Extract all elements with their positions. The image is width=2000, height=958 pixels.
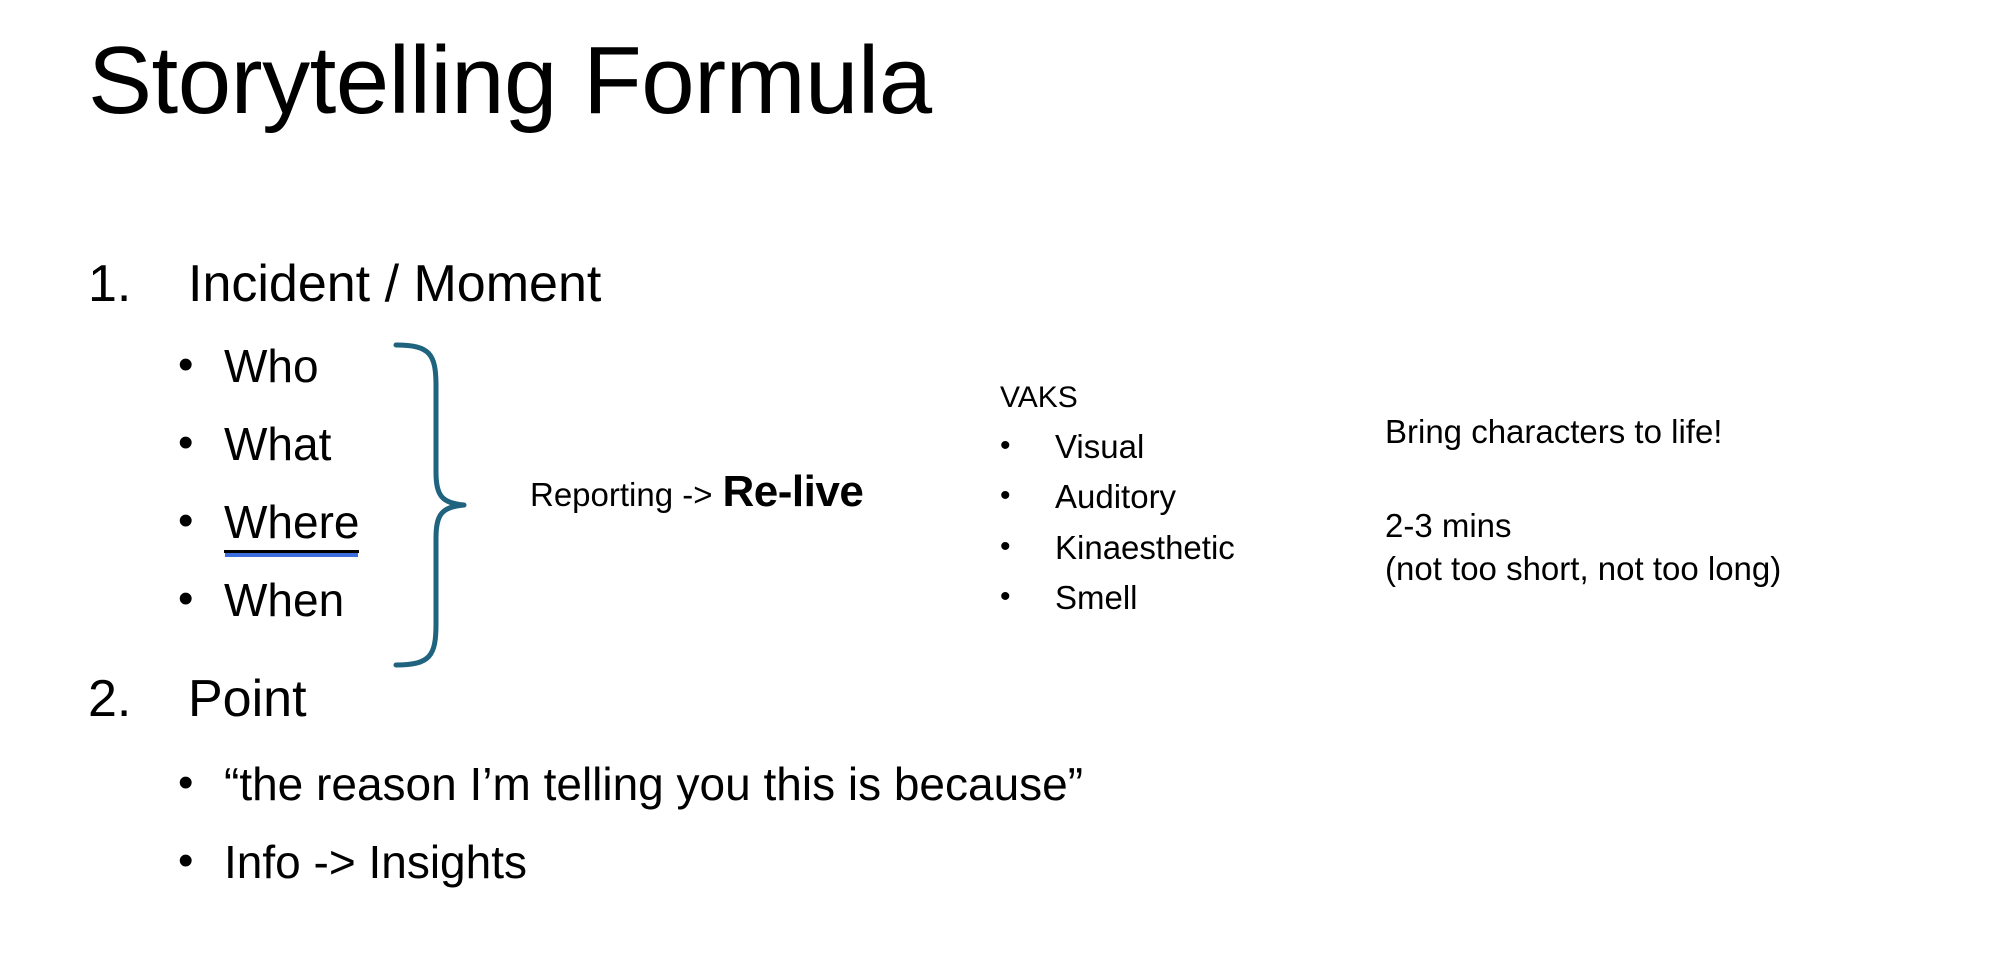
relive-label: Re-live (723, 467, 864, 516)
outline-item-2: 2.Point (88, 670, 307, 730)
note-bring-characters: Bring characters to life! (1385, 410, 1781, 454)
bullet-dot-icon: • (178, 574, 224, 625)
vaks-label-visual: Visual (1055, 426, 1144, 467)
reporting-label: Reporting -> (530, 476, 713, 513)
notes-group: Bring characters to life! 2-3 mins (not … (1385, 410, 1781, 591)
list-item: •Auditory (1000, 476, 1235, 517)
bullet-label-who: Who (224, 340, 319, 393)
bullet-dot-icon: • (178, 758, 224, 809)
bullet-dot-icon: • (1000, 426, 1055, 467)
vaks-group: VAKS •Visual •Auditory •Kinaesthetic •Sm… (1000, 380, 1235, 627)
list-item: •Where (178, 496, 359, 553)
bullet-dot-icon: • (178, 418, 224, 469)
bullet-dot-icon: • (1000, 527, 1055, 568)
slide-canvas: Storytelling Formula 1.Incident / Moment… (0, 0, 2000, 958)
reporting-relive-annotation: Reporting ->Re-live (530, 467, 863, 517)
list-item: •Visual (1000, 426, 1235, 467)
list-item: •What (178, 418, 331, 471)
list-item: •Info -> Insights (178, 836, 527, 889)
bullet-label-what: What (224, 418, 331, 471)
list-item: •Kinaesthetic (1000, 527, 1235, 568)
note-duration: 2-3 mins (1385, 504, 1781, 548)
vaks-label-kinaesthetic: Kinaesthetic (1055, 527, 1235, 568)
list-item: •When (178, 574, 344, 627)
outline-marker-2: 2. (88, 670, 188, 730)
vaks-label-smell: Smell (1055, 577, 1138, 618)
list-item: •“the reason I’m telling you this is bec… (178, 758, 1083, 811)
bullet-dot-icon: • (178, 340, 224, 391)
bullet-dot-icon: • (1000, 577, 1055, 618)
note-spacer (1385, 454, 1781, 504)
vaks-heading: VAKS (1000, 380, 1235, 416)
bullet-label-where: Where (224, 496, 359, 553)
bullet-label-reason-quote: “the reason I’m telling you this is beca… (224, 758, 1083, 811)
bullet-label-info-insights: Info -> Insights (224, 836, 527, 889)
outline-label-2: Point (188, 670, 307, 730)
outline-label-1: Incident / Moment (188, 255, 601, 315)
outline-item-1: 1.Incident / Moment (88, 255, 601, 315)
vaks-label-auditory: Auditory (1055, 476, 1176, 517)
note-duration-qualifier: (not too short, not too long) (1385, 547, 1781, 591)
bullet-dot-icon: • (178, 496, 224, 547)
bullet-dot-icon: • (1000, 476, 1055, 517)
list-item: •Smell (1000, 577, 1235, 618)
outline-marker-1: 1. (88, 255, 188, 315)
curly-brace-icon (392, 340, 472, 675)
page-title: Storytelling Formula (88, 28, 932, 134)
list-item: •Who (178, 340, 319, 393)
bullet-label-when: When (224, 574, 344, 627)
bullet-dot-icon: • (178, 836, 224, 887)
